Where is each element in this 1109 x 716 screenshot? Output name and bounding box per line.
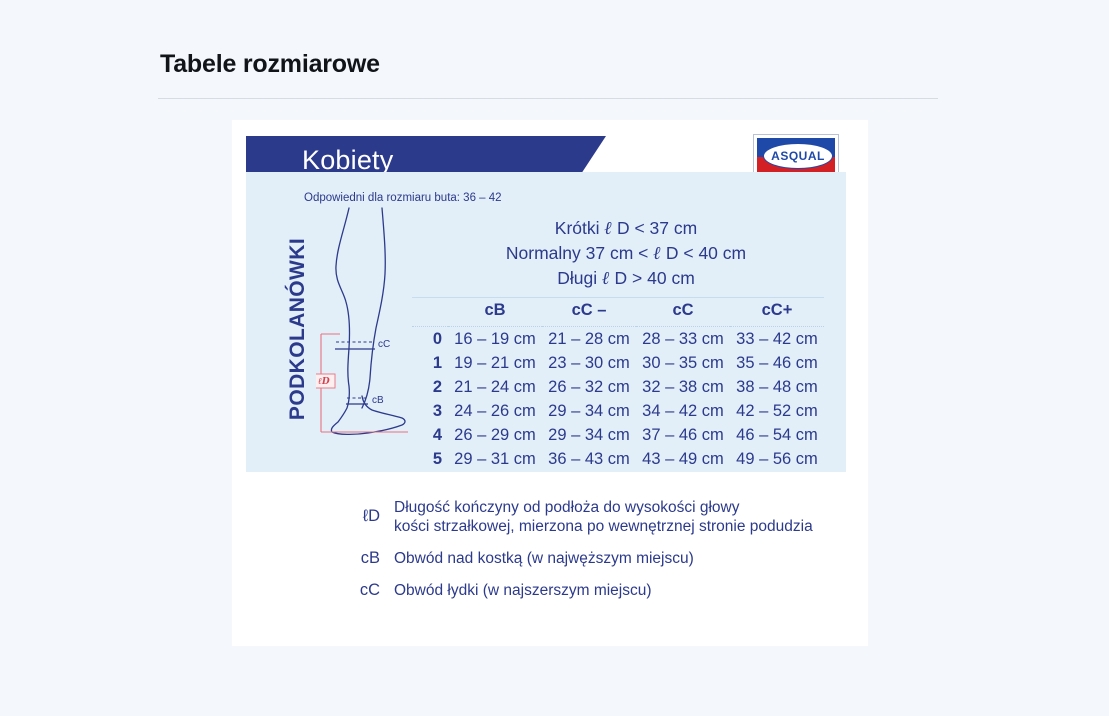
length-legend-row-long: Długi ℓ D > 40 cm (426, 266, 826, 291)
length-legend-row-normal: Normalny 37 cm < ℓ D < 40 cm (426, 241, 826, 266)
size-index-cell: 5 (412, 447, 448, 471)
length-legend: Krótki ℓ D < 37 cm Normalny 37 cm < ℓ D … (426, 216, 826, 291)
legend-desc-ld: Długość kończyny od podłoża do wysokości… (394, 498, 813, 536)
page-title: Tabele rozmiarowe (160, 50, 380, 79)
svg-text:ℓD: ℓD (318, 377, 330, 387)
legend-desc-ld-line2: kości strzałkowej, mierzona po wewnętrzn… (394, 517, 813, 536)
table-panel: Odpowiedni dla rozmiaru buta: 36 – 42 PO… (246, 172, 846, 472)
legend-desc-ld-line1: Długość kończyny od podłoża do wysokości… (394, 499, 739, 516)
measurement-cell: 29 – 31 cm (448, 447, 542, 471)
measurement-cell: 19 – 21 cm (448, 351, 542, 375)
measurement-cell: 26 – 32 cm (542, 375, 636, 399)
measurement-cell: 24 – 26 cm (448, 399, 542, 423)
legend-row-ankle: cB Obwód nad kostką (w najwęższym miejsc… (350, 549, 850, 568)
measurement-cell: 30 – 35 cm (636, 351, 730, 375)
measurement-cell: 29 – 34 cm (542, 423, 636, 447)
legend-key-cc: cC (350, 581, 394, 600)
table-row: 324 – 26 cm29 – 34 cm34 – 42 cm42 – 52 c… (412, 399, 824, 423)
legend-row-length: ℓD Długość kończyny od podłoża do wysoko… (350, 498, 850, 536)
legend-key-cb: cB (350, 549, 394, 568)
legend-key-ld: ℓD (350, 498, 394, 526)
length-normal-prefix: 37 cm < (586, 243, 649, 263)
column-header-size (412, 298, 448, 327)
legend-row-calf: cC Obwód łydki (w najszerszym miejscu) (350, 581, 850, 600)
measurement-table: cB cC – cC cC+ 016 – 19 cm21 – 28 cm28 –… (412, 297, 824, 471)
measurement-cell: 21 – 24 cm (448, 375, 542, 399)
size-index-cell: 0 (412, 327, 448, 352)
measurement-cell: 28 – 33 cm (636, 327, 730, 352)
table-row: 529 – 31 cm36 – 43 cm43 – 49 cm49 – 56 c… (412, 447, 824, 471)
column-header-cc-plus: cC+ (730, 298, 824, 327)
size-chart-card: Kobiety ASQUAL COMPRESSION MÉDICALE Odpo… (232, 120, 868, 646)
length-normal-formula: D < 40 cm (666, 243, 746, 263)
measurement-cell: 21 – 28 cm (542, 327, 636, 352)
length-long-formula: D > 40 cm (615, 268, 695, 288)
measurement-cell: 37 – 46 cm (636, 423, 730, 447)
shoe-size-note: Odpowiedni dla rozmiaru buta: 36 – 42 (304, 192, 502, 204)
measurement-cell: 49 – 56 cm (730, 447, 824, 471)
title-divider (158, 98, 938, 99)
leg-diagram: cC cB ℓD (316, 206, 416, 446)
table-header-row: cB cC – cC cC+ (412, 298, 824, 327)
ell-symbol-icon: ℓ (602, 268, 610, 289)
svg-text:cB: cB (372, 395, 384, 406)
table-row: 119 – 21 cm23 – 30 cm30 – 35 cm35 – 46 c… (412, 351, 824, 375)
table-row: 016 – 19 cm21 – 28 cm28 – 33 cm33 – 42 c… (412, 327, 824, 352)
length-legend-row-short: Krótki ℓ D < 37 cm (426, 216, 826, 241)
logo-name: ASQUAL (771, 149, 825, 163)
measurement-cell: 43 – 49 cm (636, 447, 730, 471)
logo-oval: ASQUAL (763, 143, 833, 169)
measurement-cell: 35 – 46 cm (730, 351, 824, 375)
product-type-label: PODKOLANÓWKI (284, 214, 312, 444)
size-index-cell: 1 (412, 351, 448, 375)
measurement-cell: 42 – 52 cm (730, 399, 824, 423)
size-index-cell: 2 (412, 375, 448, 399)
length-long-name: Długi (557, 268, 597, 288)
measurement-cell: 23 – 30 cm (542, 351, 636, 375)
measurement-cell: 33 – 42 cm (730, 327, 824, 352)
legend-desc-cb: Obwód nad kostką (w najwęższym miejscu) (394, 549, 694, 568)
legend-block: ℓD Długość kończyny od podłoża do wysoko… (350, 498, 850, 613)
table-row: 221 – 24 cm26 – 32 cm32 – 38 cm38 – 48 c… (412, 375, 824, 399)
size-index-cell: 3 (412, 399, 448, 423)
svg-text:cC: cC (378, 339, 390, 350)
length-short-formula: D < 37 cm (617, 218, 697, 238)
ell-symbol-icon: ℓ (653, 243, 661, 264)
measurement-cell: 29 – 34 cm (542, 399, 636, 423)
column-header-cc: cC (636, 298, 730, 327)
measurement-cell: 38 – 48 cm (730, 375, 824, 399)
measurement-cell: 46 – 54 cm (730, 423, 824, 447)
measurement-cell: 34 – 42 cm (636, 399, 730, 423)
column-header-cc-minus: cC – (542, 298, 636, 327)
measurement-cell: 16 – 19 cm (448, 327, 542, 352)
column-header-cb: cB (448, 298, 542, 327)
legend-desc-cc: Obwód łydki (w najszerszym miejscu) (394, 581, 652, 600)
table-row: 426 – 29 cm29 – 34 cm37 – 46 cm46 – 54 c… (412, 423, 824, 447)
product-type-text: PODKOLANÓWKI (286, 238, 310, 420)
length-short-name: Krótki (555, 218, 600, 238)
ell-symbol-icon: ℓ (604, 218, 612, 239)
size-index-cell: 4 (412, 423, 448, 447)
measurement-cell: 32 – 38 cm (636, 375, 730, 399)
length-normal-name: Normalny (506, 243, 581, 263)
measurement-cell: 26 – 29 cm (448, 423, 542, 447)
measurement-cell: 36 – 43 cm (542, 447, 636, 471)
